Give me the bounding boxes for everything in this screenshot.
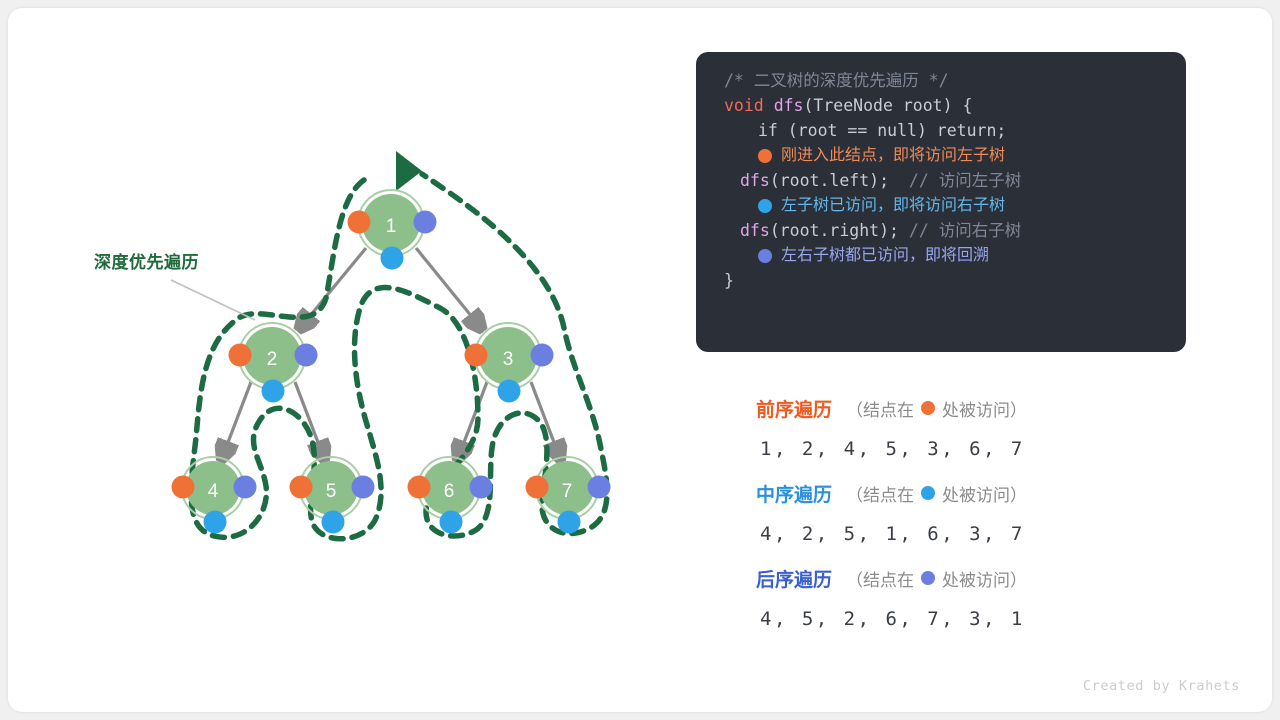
tree-node-label: 2 xyxy=(267,349,278,370)
postorder-dot xyxy=(588,476,611,499)
tree-node-label: 3 xyxy=(503,349,514,370)
code-fn-dfs: dfs xyxy=(774,93,804,118)
tree-node-label: 1 xyxy=(386,216,397,237)
code-line-nullcheck: if (root == null) return; xyxy=(696,118,1186,143)
inorder-dot-icon xyxy=(921,486,935,500)
postorder-paren: （结点在 处被访问） xyxy=(846,566,1027,591)
result-group-inorder: 中序遍历 （结点在 处被访问） 4, 2, 5, 1, 6, 3, 7 xyxy=(756,475,1176,557)
postorder-sequence: 4, 5, 2, 6, 7, 3, 1 xyxy=(756,596,1176,642)
code-note-inorder-text: 左子树已访问，即将访问右子树 xyxy=(781,193,1005,218)
postorder-dot xyxy=(352,476,375,499)
code-line-comment: /* 二叉树的深度优先遍历 */ xyxy=(696,68,1186,93)
postorder-dot-icon xyxy=(921,571,935,585)
result-header: 后序遍历 （结点在 处被访问） xyxy=(756,560,1176,596)
preorder-dot xyxy=(408,476,431,499)
inorder-dot-icon xyxy=(758,199,772,213)
code-signature-rest: (TreeNode root) { xyxy=(804,93,973,118)
code-comment-right: // 访问右子树 xyxy=(909,218,1021,243)
preorder-dot xyxy=(229,344,252,367)
paren-after: 处被访问） xyxy=(942,396,1027,421)
tree-diagram-panel: 1 2 3 xyxy=(8,8,668,712)
result-group-postorder: 后序遍历 （结点在 处被访问） 4, 5, 2, 6, 7, 3, 1 xyxy=(756,560,1176,642)
paren-before: （结点在 xyxy=(846,396,914,421)
paren-before: （结点在 xyxy=(846,566,914,591)
preorder-dot xyxy=(348,211,371,234)
paren-after: 处被访问） xyxy=(942,481,1027,506)
traversal-results: 前序遍历 （结点在 处被访问） 1, 2, 4, 5, 3, 6, 7 中序遍历… xyxy=(756,390,1176,645)
preorder-paren: （结点在 处被访问） xyxy=(846,396,1027,421)
tree-node-4[interactable]: 4 xyxy=(172,457,257,534)
postorder-dot xyxy=(470,476,493,499)
preorder-dot-icon xyxy=(921,401,935,415)
preorder-dot xyxy=(465,344,488,367)
postorder-dot xyxy=(414,211,437,234)
postorder-dot xyxy=(531,344,554,367)
inorder-dot xyxy=(498,380,521,403)
code-line-close: } xyxy=(696,268,1186,293)
code-line-signature: void dfs(TreeNode root) { xyxy=(696,93,1186,118)
preorder-dot-icon xyxy=(758,149,772,163)
inorder-dot xyxy=(204,511,227,534)
code-note-inorder: 左子树已访问，即将访问右子树 xyxy=(696,193,1186,218)
tree-node-6[interactable]: 6 xyxy=(408,457,493,534)
postorder-dot-icon xyxy=(758,249,772,263)
tree-node-5[interactable]: 5 xyxy=(290,457,375,534)
credit-text: Created by Krahets xyxy=(1083,678,1240,694)
result-group-preorder: 前序遍历 （结点在 处被访问） 1, 2, 4, 5, 3, 6, 7 xyxy=(756,390,1176,472)
tree-svg: 1 2 3 xyxy=(8,8,668,712)
result-header: 中序遍历 （结点在 处被访问） xyxy=(756,475,1176,511)
preorder-dot xyxy=(526,476,549,499)
paren-before: （结点在 xyxy=(846,481,914,506)
tree-node-label: 5 xyxy=(326,481,337,502)
inorder-dot xyxy=(381,247,404,270)
dfs-annotation-label: 深度优先遍历 xyxy=(94,248,199,273)
inorder-title: 中序遍历 xyxy=(756,480,832,507)
result-header: 前序遍历 （结点在 处被访问） xyxy=(756,390,1176,426)
preorder-dot xyxy=(172,476,195,499)
edge-1-3 xyxy=(416,248,481,328)
preorder-title: 前序遍历 xyxy=(756,395,832,422)
postorder-title: 后序遍历 xyxy=(756,565,832,592)
inorder-sequence: 4, 2, 5, 1, 6, 3, 7 xyxy=(756,511,1176,557)
postorder-dot xyxy=(295,344,318,367)
preorder-dot xyxy=(290,476,313,499)
preorder-sequence: 1, 2, 4, 5, 3, 6, 7 xyxy=(756,426,1176,472)
code-line-dfs-right: dfs(root.right); // 访问右子树 xyxy=(696,218,1186,243)
tree-node-label: 6 xyxy=(444,481,455,502)
code-keyword-void: void xyxy=(724,93,764,118)
main-card: 1 2 3 xyxy=(8,8,1272,712)
inorder-dot xyxy=(322,511,345,534)
play-triangle-icon xyxy=(396,151,422,191)
inorder-paren: （结点在 处被访问） xyxy=(846,481,1027,506)
inorder-dot xyxy=(558,511,581,534)
code-note-postorder-text: 左右子树都已访问，即将回溯 xyxy=(781,243,989,268)
paren-after: 处被访问） xyxy=(942,566,1027,591)
postorder-dot xyxy=(234,476,257,499)
tree-node-label: 4 xyxy=(208,481,219,502)
code-comment-left: // 访问左子树 xyxy=(909,168,1021,193)
inorder-dot xyxy=(440,511,463,534)
edge-2-4 xyxy=(222,382,251,458)
code-note-preorder: 刚进入此结点，即将访问左子树 xyxy=(696,143,1186,168)
tree-node-label: 7 xyxy=(562,481,573,502)
code-block: /* 二叉树的深度优先遍历 */ void dfs(TreeNode root)… xyxy=(696,52,1186,352)
tree-node-2[interactable]: 2 xyxy=(229,323,318,403)
code-line-dfs-left: dfs(root.left); // 访问左子树 xyxy=(696,168,1186,193)
annotation-leader-line xyxy=(171,280,255,320)
code-note-preorder-text: 刚进入此结点，即将访问左子树 xyxy=(781,143,1005,168)
code-comment-header: /* 二叉树的深度优先遍历 */ xyxy=(724,68,949,93)
inorder-dot xyxy=(262,380,285,403)
code-note-postorder: 左右子树都已访问，即将回溯 xyxy=(696,243,1186,268)
